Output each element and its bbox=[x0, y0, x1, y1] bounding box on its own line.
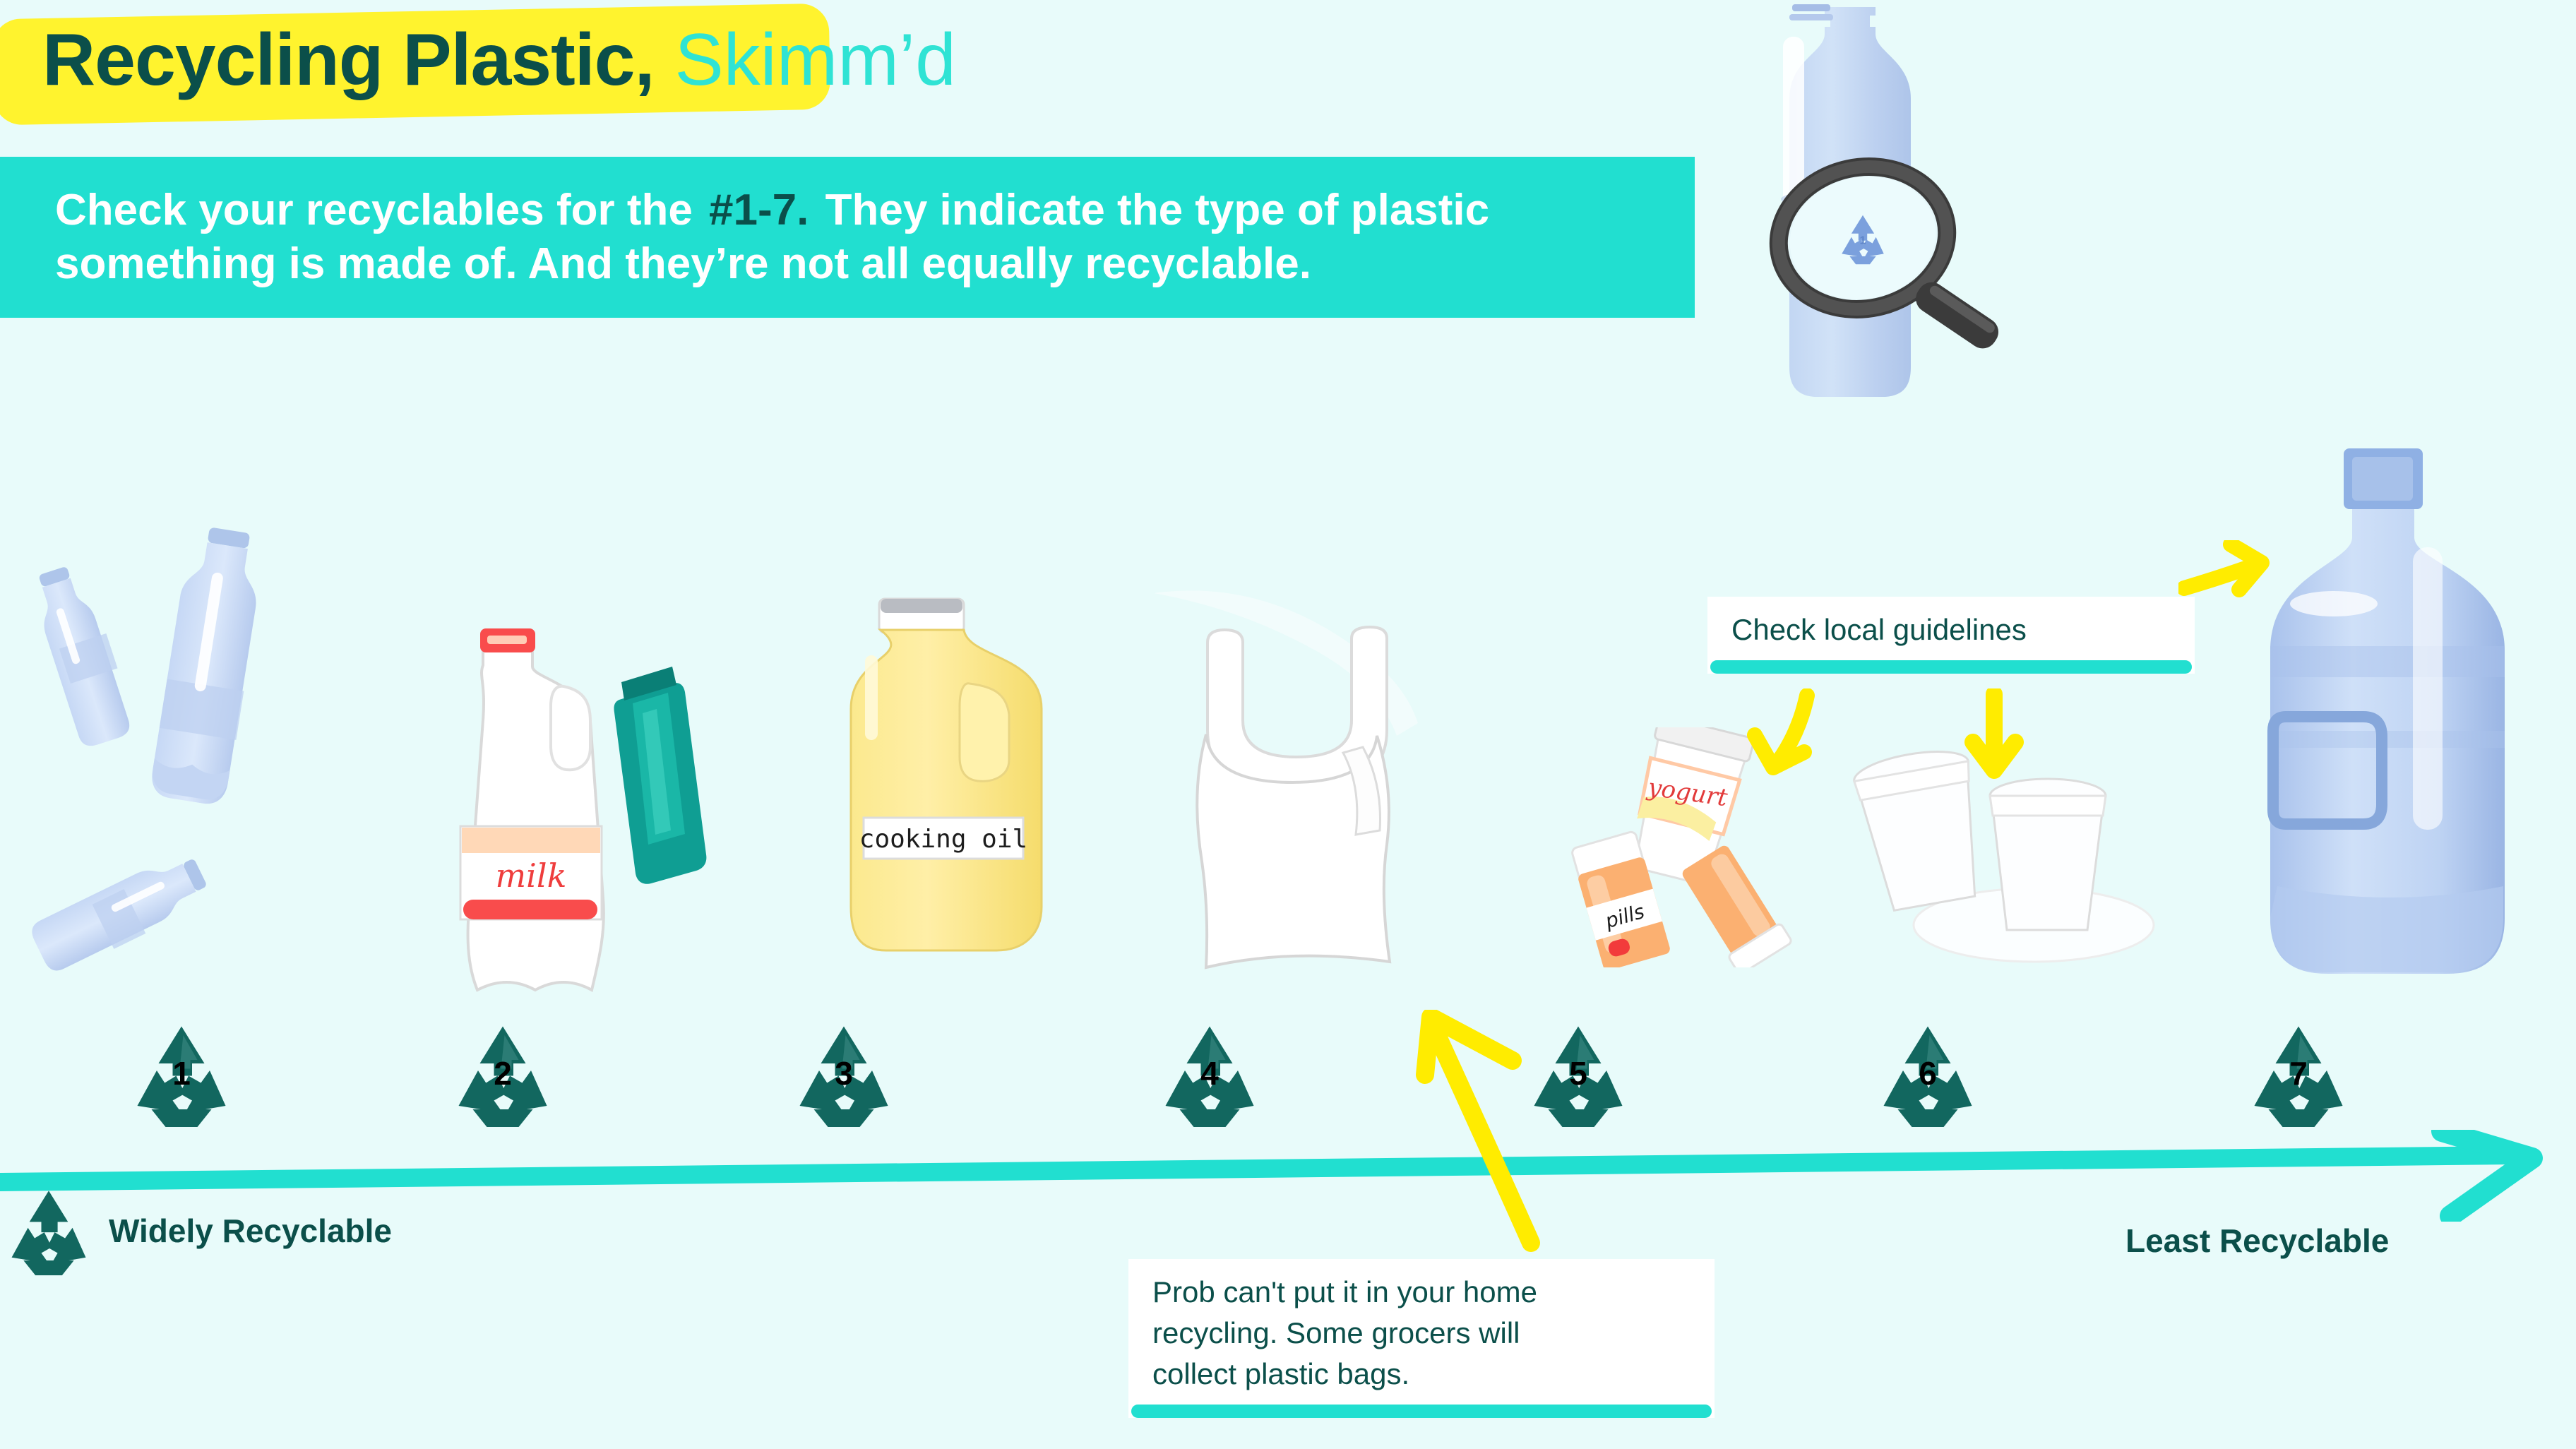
banner-text-part1: Check your recyclables for the bbox=[55, 186, 705, 234]
cooking-oil-label: cooking oil bbox=[859, 818, 1027, 859]
widely-recyclable-text: Widely Recyclable bbox=[109, 1212, 392, 1250]
recycle-badge-1: 1 bbox=[129, 1021, 234, 1127]
recycle-badge-7: 7 bbox=[2246, 1021, 2351, 1127]
title-sub: Skimm’d bbox=[674, 19, 956, 101]
recycle-number-2: 2 bbox=[450, 1054, 556, 1092]
callout-guidelines-text: Check local guidelines bbox=[1707, 597, 2195, 660]
water-bottle-small bbox=[28, 561, 138, 749]
five-gallon-water-jug bbox=[2270, 448, 2505, 974]
recycle-number-3: 3 bbox=[791, 1054, 897, 1092]
recycle-number-1: 1 bbox=[129, 1054, 234, 1092]
callout-check-local-guidelines: Check local guidelines bbox=[1707, 597, 2195, 674]
lens-recycle-number: 1 bbox=[1860, 234, 1866, 247]
recycle-number-4: 4 bbox=[1157, 1054, 1263, 1092]
product-group-4-plastic-bag bbox=[1130, 565, 1462, 1003]
recycle-badge-4: 4 bbox=[1157, 1021, 1263, 1127]
callout-bags-underline bbox=[1131, 1405, 1712, 1418]
cooking-oil-jug: cooking oil bbox=[851, 599, 1042, 950]
intro-banner: Check your recyclables for the #1-7. The… bbox=[0, 157, 1695, 318]
product-group-1-water-bottles bbox=[0, 523, 367, 1017]
plastic-bag bbox=[1154, 590, 1418, 967]
milk-label-text: milk bbox=[496, 857, 567, 895]
product-group-3-cooking-oil: cooking oil bbox=[844, 593, 1091, 967]
banner-number-range-highlight: #1-7. bbox=[705, 184, 813, 237]
infographic-canvas: Recycling Plastic, Skimm’d Check your re… bbox=[0, 0, 2576, 1449]
recycle-number-7: 7 bbox=[2246, 1054, 2351, 1092]
yellow-arrow-to-water-jug bbox=[2178, 540, 2270, 618]
shampoo-bottle bbox=[614, 667, 706, 884]
yellow-arrow-to-plastic-bag bbox=[1384, 1010, 1596, 1285]
recycle-badge-6: 6 bbox=[1875, 1021, 1981, 1127]
callout-guidelines-underline bbox=[1710, 660, 2192, 674]
yellow-arrow-to-yogurt bbox=[1734, 688, 1825, 780]
title-main: Recycling Plastic, bbox=[42, 19, 654, 101]
recycle-badge-2: 2 bbox=[450, 1021, 556, 1127]
widely-recyclable-label: Widely Recyclable bbox=[4, 1186, 392, 1275]
product-group-2-milk-jug-shampoo: milk bbox=[410, 614, 741, 1017]
product-group-7-water-jug bbox=[2228, 434, 2553, 999]
title-text: Recycling Plastic, Skimm’d bbox=[0, 23, 956, 97]
water-bottle-tipped bbox=[28, 848, 214, 979]
water-bottle-large bbox=[149, 524, 268, 806]
recycle-number-6: 6 bbox=[1875, 1054, 1981, 1092]
magnifier-illustration: 1 bbox=[1716, 0, 2083, 475]
recycle-badge-3: 3 bbox=[791, 1021, 897, 1127]
recycle-icon bbox=[4, 1186, 93, 1275]
least-recyclable-label: Least Recyclable bbox=[2125, 1222, 2389, 1260]
cooking-oil-label-text: cooking oil bbox=[859, 825, 1027, 854]
yellow-arrow-to-foam-cups bbox=[1956, 688, 2034, 780]
intro-banner-text: Check your recyclables for the #1-7. The… bbox=[0, 184, 1695, 290]
foam-cup-right bbox=[1990, 779, 2106, 930]
milk-label: milk bbox=[460, 826, 602, 919]
page-title: Recycling Plastic, Skimm’d bbox=[0, 7, 956, 113]
milk-jug: milk bbox=[460, 628, 604, 990]
